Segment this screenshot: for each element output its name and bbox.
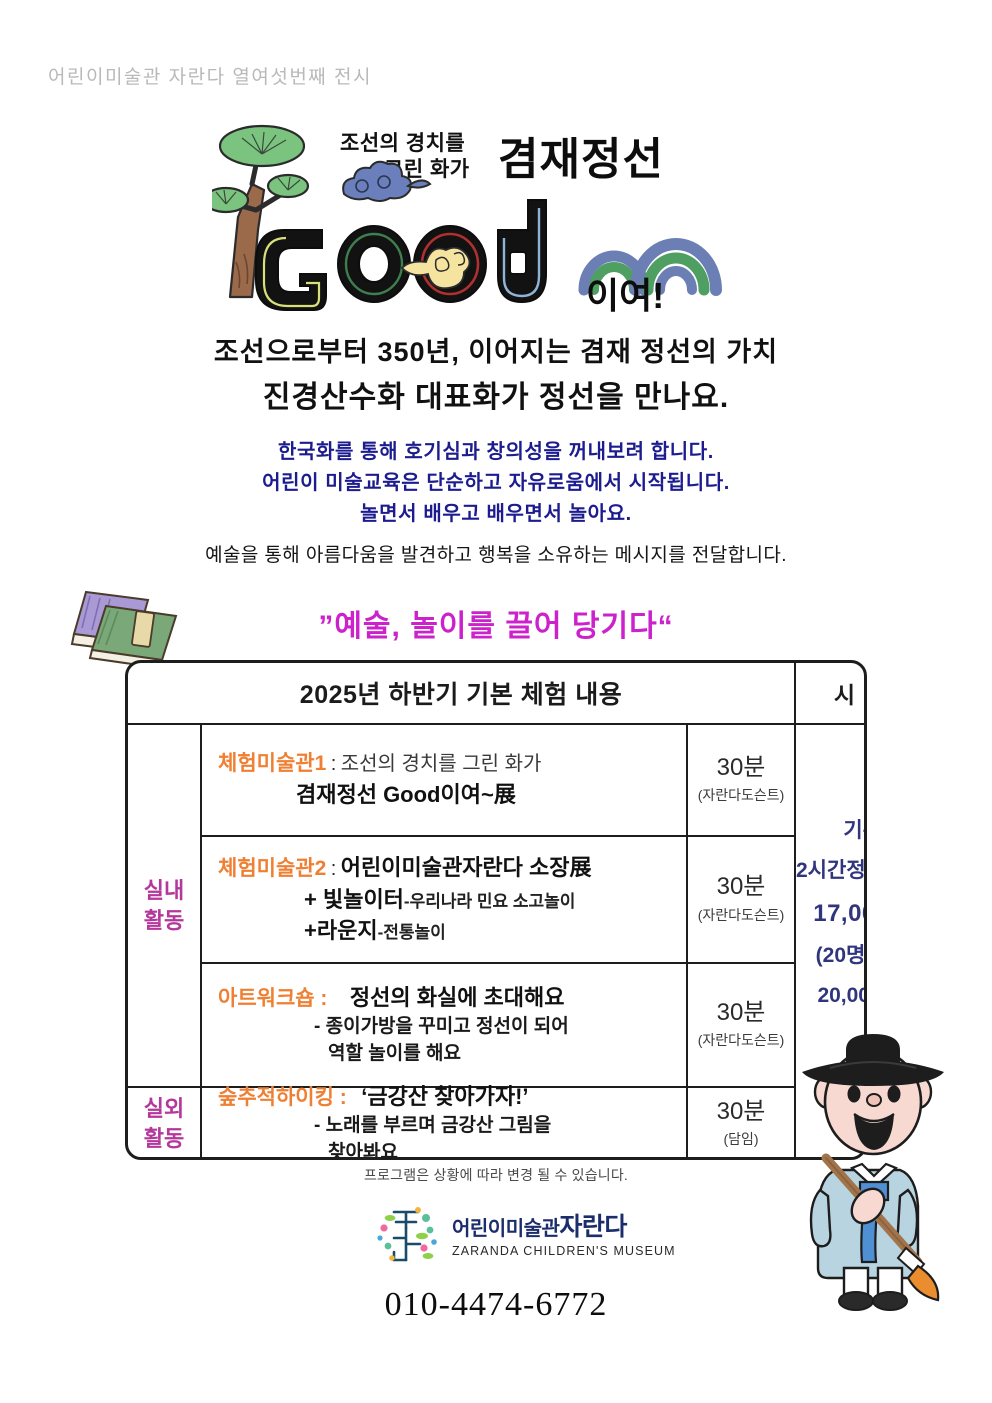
row-4-line1: ‘금강산 찾아가자!’ xyxy=(351,1084,528,1109)
table-header-main: 2025년 하반기 기본 체험 내용 xyxy=(128,663,796,725)
table-header-time: 시 간 xyxy=(796,663,867,725)
exhibition-logo-artwork: 조선의 경치를 그린 화가 겸재정선 xyxy=(212,112,742,312)
row-2-duration: 30분 xyxy=(717,874,766,900)
subcopy-line-1: 한국화를 통해 호기심과 창의성을 꺼내보려 합니다. xyxy=(0,437,992,468)
row-2-sep: : xyxy=(331,858,337,880)
museum-brand-logo: 어린이미술관자란다 ZARANDA CHILDREN'S MUSEUM xyxy=(372,1205,650,1267)
row-4-duration-sub: (담임) xyxy=(723,1129,758,1149)
table-row: 체험미술관2 : 어린이미술관자란다 소장展 + 빛놀이터-우리나라 민요 소고… xyxy=(202,837,688,964)
row-2-line3a: +라운지 xyxy=(304,918,378,943)
side-label-outdoor-line1: 실외 xyxy=(144,1094,184,1124)
side-label-outdoor: 실외 활동 xyxy=(128,1088,202,1160)
price-line-2: 2시간정도 소요 xyxy=(796,851,867,891)
row-3-duration-sub: (자란다도슨트) xyxy=(698,1030,785,1050)
side-label-indoor-line1: 실내 xyxy=(144,876,184,906)
row-1-line2: 겸재정선 Good이여~展 xyxy=(296,782,516,807)
row-3-duration-cell: 30분 (자란다도슨트) xyxy=(688,964,796,1088)
books-illustration xyxy=(52,578,222,668)
price-line-5: 20,000원) xyxy=(817,976,867,1016)
row-3-tag: 아트워크숍 : xyxy=(218,987,327,1010)
price-line-4: (20명 미만 xyxy=(816,936,867,976)
table-row: 아트워크숍 : 정선의 화실에 초대해요 - 종이가방을 꾸미고 정선이 되어 … xyxy=(202,964,688,1088)
row-2-duration-sub: (자란다도슨트) xyxy=(698,905,785,925)
exhibition-kicker: 어린이미술관 자란다 열여섯번째 전시 xyxy=(48,62,372,89)
row-1-duration-sub: (자란다도슨트) xyxy=(698,785,785,805)
row-2-line2b: -우리나라 민요 소고놀이 xyxy=(404,892,576,911)
subcopy-block: 한국화를 통해 호기심과 창의성을 꺼내보려 합니다. 어린이 미술교육은 단순… xyxy=(0,437,992,530)
row-1-duration: 30분 xyxy=(717,755,766,781)
brand-korean-name: 어린이미술관자란다 xyxy=(452,1214,676,1242)
logo-small-line1: 조선의 경치를 xyxy=(340,132,465,155)
row-4-duration-cell: 30분 (담임) xyxy=(688,1088,796,1160)
row-3-duration: 30분 xyxy=(717,1000,766,1026)
logo-good-lettering xyxy=(256,200,546,310)
row-2-line2a: + 빛놀이터 xyxy=(304,887,404,912)
row-1-line1: 조선의 경치를 그린 화가 xyxy=(341,753,542,775)
headline-line-1: 조선으로부터 350년, 이어지는 겸재 정선의 가치 xyxy=(0,334,992,370)
side-label-indoor: 실내 활동 xyxy=(128,725,202,1088)
green-book-icon xyxy=(90,606,176,668)
logo-suffix-text: 이여! xyxy=(586,275,664,312)
row-4-line3: 찾아봐요 xyxy=(328,1142,398,1160)
row-3-line3: 역할 놀이를 해요 xyxy=(328,1043,461,1064)
side-label-outdoor-line2: 활동 xyxy=(144,1124,184,1154)
yellow-cloud-icon xyxy=(402,248,470,288)
row-3-line1: 정선의 화실에 초대해요 xyxy=(332,985,565,1010)
schedule-table: 2025년 하반기 기본 체험 내용 시 간 실내 활동 체험미술관1 : 조선… xyxy=(125,660,867,1160)
row-4-duration: 30분 xyxy=(717,1099,766,1125)
row-2-duration-cell: 30분 (자란다도슨트) xyxy=(688,837,796,964)
headline-block: 조선으로부터 350년, 이어지는 겸재 정선의 가치 진경산수화 대표화가 정… xyxy=(0,334,992,420)
scholar-character-illustration xyxy=(790,1030,985,1315)
table-row: 체험미술관1 : 조선의 경치를 그린 화가 겸재정선 Good이여~展 xyxy=(202,725,688,837)
subcopy-line-3: 놀면서 배우고 배우면서 놀아요. xyxy=(0,499,992,530)
brand-ko-bold: 자란다 xyxy=(559,1213,627,1241)
row-1-sep: : xyxy=(331,753,337,775)
brand-english-name: ZARANDA CHILDREN'S MUSEUM xyxy=(452,1244,676,1258)
table-row: 숲추적하이킹 : ‘금강산 찾아가자!’ - 노래를 부르며 금강산 그림을 찾… xyxy=(202,1088,688,1160)
row-2-line1: 어린이미술관자란다 소장展 xyxy=(341,855,592,880)
row-2-tag: 체험미술관2 xyxy=(218,857,326,880)
row-2-line3b: -전통놀이 xyxy=(378,923,446,942)
zaranda-tree-mark-icon xyxy=(372,1206,444,1266)
subcopy-line-2: 어린이 미술교육은 단순하고 자유로움에서 시작됩니다. xyxy=(0,468,992,499)
price-line-1: 기본 xyxy=(843,811,867,851)
tagline-text: 예술을 통해 아름다움을 발견하고 행복을 소유하는 메시지를 전달합니다. xyxy=(0,540,992,567)
headline-line-2: 진경산수화 대표화가 정선을 만나요. xyxy=(0,376,992,420)
side-label-indoor-line2: 활동 xyxy=(144,906,184,936)
brand-ko-prefix: 어린이미술관 xyxy=(452,1218,559,1240)
row-3-line2: - 종이가방을 꾸미고 정선이 되어 xyxy=(314,1016,569,1037)
logo-artist-name: 겸재정선 xyxy=(498,135,664,184)
row-4-line2: - 노래를 부르며 금강산 그림을 xyxy=(314,1115,551,1136)
row-1-tag: 체험미술관1 xyxy=(218,752,326,775)
contact-phone-number: 010-4474-6772 xyxy=(0,1286,992,1324)
row-4-tag: 숲추적하이킹 : xyxy=(218,1086,347,1109)
price-amount-main: 17,000원 xyxy=(813,891,867,937)
row-1-duration-cell: 30분 (자란다도슨트) xyxy=(688,725,796,837)
